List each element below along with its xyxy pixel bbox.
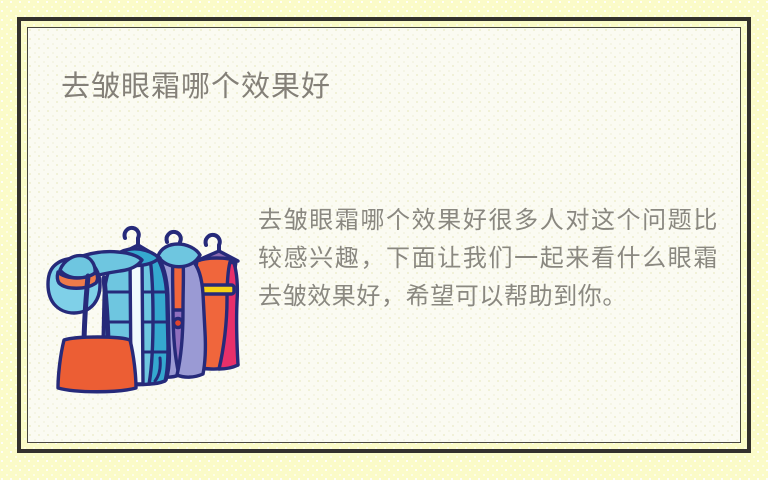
clothing-rack-svg xyxy=(46,198,260,403)
hanger-jacket-hook xyxy=(125,228,139,245)
page-title: 去皱眼霜哪个效果好 xyxy=(61,68,331,106)
coat-button xyxy=(174,319,183,328)
clothing-rack-illustration xyxy=(46,198,260,403)
bag-body xyxy=(58,337,136,392)
coat-scarf-collar xyxy=(158,244,200,267)
article-paragraph: 去皱眼霜哪个效果好很多人对这个问题比较感兴趣，下面让我们一起来看什么眼霜去皱效果… xyxy=(258,202,718,316)
page-background: 去皱眼霜哪个效果好 xyxy=(0,0,768,480)
article-body: 去皱眼霜哪个效果好很多人对这个问题比较感兴趣，下面让我们一起来看什么眼霜去皱效果… xyxy=(28,188,741,418)
article-paragraph-text: 去皱眼霜哪个效果好很多人对这个问题比较感兴趣，下面让我们一起来看什么眼霜去皱效果… xyxy=(258,202,718,316)
hanger-dress-hook xyxy=(206,235,220,251)
content-surface: 去皱眼霜哪个效果好 xyxy=(27,27,741,443)
